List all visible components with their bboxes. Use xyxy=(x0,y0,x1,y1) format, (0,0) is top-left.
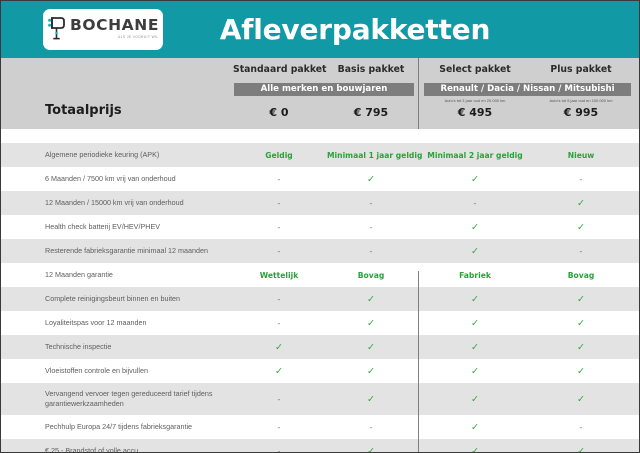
row-label: Resterende fabrieksgarantie minimaal 12 … xyxy=(45,246,230,256)
check-icon: ✓ xyxy=(425,246,525,257)
price-basis: € 795 xyxy=(327,106,415,119)
package-name-row: Standaard pakket Basis pakket Select pak… xyxy=(1,64,639,79)
dash-marker: - xyxy=(531,175,631,184)
cell-value: Minimaal 1 jaar geldig xyxy=(327,151,415,160)
check-icon: ✓ xyxy=(531,294,631,305)
cell-value: Bovag xyxy=(327,271,415,280)
check-icon: ✓ xyxy=(425,394,525,405)
row-label: Technische inspectie xyxy=(45,342,230,352)
table-row: Vloeistoffen controle en bijvullen✓✓✓✓ xyxy=(1,359,639,383)
check-icon: ✓ xyxy=(425,342,525,353)
check-icon: ✓ xyxy=(425,422,525,433)
table-row: Loyaliteitspas voor 12 maanden-✓✓✓ xyxy=(1,311,639,335)
cell-value: Geldig xyxy=(233,151,325,160)
dash-marker: - xyxy=(327,247,415,256)
table-row: Complete reinigingsbeurt binnen en buite… xyxy=(1,287,639,311)
dash-marker: - xyxy=(327,423,415,432)
row-label: € 25,- Brandstof of volle accu xyxy=(45,446,230,453)
price-standaard: € 0 xyxy=(233,106,325,119)
check-icon: ✓ xyxy=(531,446,631,453)
table-row: Vervangend vervoer tegen gereduceerd tar… xyxy=(1,383,639,415)
row-label: Vervangend vervoer tegen gereduceerd tar… xyxy=(45,389,230,409)
table-row: Resterende fabrieksgarantie minimaal 12 … xyxy=(1,239,639,263)
package-name-basis: Basis pakket xyxy=(327,64,415,75)
group-divider-top xyxy=(418,58,419,129)
cell-value: Wettelijk xyxy=(233,271,325,280)
cell-value: Nieuw xyxy=(531,151,631,160)
dash-marker: - xyxy=(233,423,325,432)
dash-marker: - xyxy=(233,223,325,232)
table-row: 12 Maanden garantieWettelijkBovagFabriek… xyxy=(1,263,639,287)
row-label: Algemene periodieke keuring (APK) xyxy=(45,150,230,160)
table-row: Algemene periodieke keuring (APK)GeldigM… xyxy=(1,143,639,167)
check-icon: ✓ xyxy=(327,174,415,185)
header-body-spacer xyxy=(1,130,639,143)
check-icon: ✓ xyxy=(531,318,631,329)
page-header: BOCHANE ALS JE VOORUIT WIL Afleverpakket… xyxy=(1,1,639,58)
pricing-header-block: Totaalprijs Standaard pakket Basis pakke… xyxy=(1,58,639,130)
package-name-standaard: Standaard pakket xyxy=(233,64,325,75)
feature-table: Algemene periodieke keuring (APK)GeldigM… xyxy=(1,143,639,453)
group-label-brands: Renault / Dacia / Nissan / Mitsubishi xyxy=(424,83,631,96)
row-label: Pechhulp Europa 24/7 tijdens fabrieksgar… xyxy=(45,422,230,432)
dash-marker: - xyxy=(425,199,525,208)
table-row: 12 Maanden / 15000 km vrij van onderhoud… xyxy=(1,191,639,215)
row-label: Complete reinigingsbeurt binnen en buite… xyxy=(45,294,230,304)
dash-marker: - xyxy=(327,223,415,232)
cell-value: Bovag xyxy=(531,271,631,280)
group-divider-body xyxy=(418,271,419,453)
check-icon: ✓ xyxy=(327,318,415,329)
check-icon: ✓ xyxy=(531,198,631,209)
dash-marker: - xyxy=(233,319,325,328)
check-icon: ✓ xyxy=(425,174,525,185)
package-note-plus: Auto's tot 5 jaar oud en 100.000 km xyxy=(531,98,631,103)
check-icon: ✓ xyxy=(425,294,525,305)
check-icon: ✓ xyxy=(327,446,415,453)
poster-root: BOCHANE ALS JE VOORUIT WIL Afleverpakket… xyxy=(0,0,640,453)
table-row: Health check batterij EV/HEV/PHEV--✓✓ xyxy=(1,215,639,239)
price-select: € 495 xyxy=(425,106,525,119)
dash-marker: - xyxy=(233,447,325,453)
package-note-select: Auto's tot 3 jaar oud en 20.000 km xyxy=(425,98,525,103)
dash-marker: - xyxy=(233,247,325,256)
dash-marker: - xyxy=(531,247,631,256)
group-label-all-brands: Alle merken en bouwjaren xyxy=(234,83,414,96)
page-title: Afleverpakketten xyxy=(1,13,639,46)
check-icon: ✓ xyxy=(425,366,525,377)
check-icon: ✓ xyxy=(425,318,525,329)
table-row: € 25,- Brandstof of volle accu-✓✓✓ xyxy=(1,439,639,453)
check-icon: ✓ xyxy=(531,394,631,405)
row-label: Vloeistoffen controle en bijvullen xyxy=(45,366,230,376)
check-icon: ✓ xyxy=(425,222,525,233)
dash-marker: - xyxy=(233,395,325,404)
check-icon: ✓ xyxy=(531,342,631,353)
check-icon: ✓ xyxy=(327,366,415,377)
dash-marker: - xyxy=(531,423,631,432)
table-row: Pechhulp Europa 24/7 tijdens fabrieksgar… xyxy=(1,415,639,439)
row-label: 12 Maanden garantie xyxy=(45,270,230,280)
row-label: Health check batterij EV/HEV/PHEV xyxy=(45,222,230,232)
check-icon: ✓ xyxy=(327,394,415,405)
table-row: Technische inspectie✓✓✓✓ xyxy=(1,335,639,359)
check-icon: ✓ xyxy=(233,366,325,377)
cell-value: Minimaal 2 jaar geldig xyxy=(425,151,525,160)
cell-value: Fabriek xyxy=(425,271,525,280)
price-plus: € 995 xyxy=(531,106,631,119)
check-icon: ✓ xyxy=(327,294,415,305)
check-icon: ✓ xyxy=(233,342,325,353)
totalprice-label: Totaalprijs xyxy=(45,103,122,118)
dash-marker: - xyxy=(233,295,325,304)
dash-marker: - xyxy=(327,199,415,208)
row-label: 6 Maanden / 7500 km vrij van onderhoud xyxy=(45,174,230,184)
check-icon: ✓ xyxy=(327,342,415,353)
table-row: 6 Maanden / 7500 km vrij van onderhoud-✓… xyxy=(1,167,639,191)
check-icon: ✓ xyxy=(531,366,631,377)
dash-marker: - xyxy=(233,175,325,184)
check-icon: ✓ xyxy=(531,222,631,233)
row-label: 12 Maanden / 15000 km vrij van onderhoud xyxy=(45,198,230,208)
dash-marker: - xyxy=(233,199,325,208)
package-name-plus: Plus pakket xyxy=(531,64,631,75)
package-name-select: Select pakket xyxy=(425,64,525,75)
check-icon: ✓ xyxy=(425,446,525,453)
row-label: Loyaliteitspas voor 12 maanden xyxy=(45,318,230,328)
